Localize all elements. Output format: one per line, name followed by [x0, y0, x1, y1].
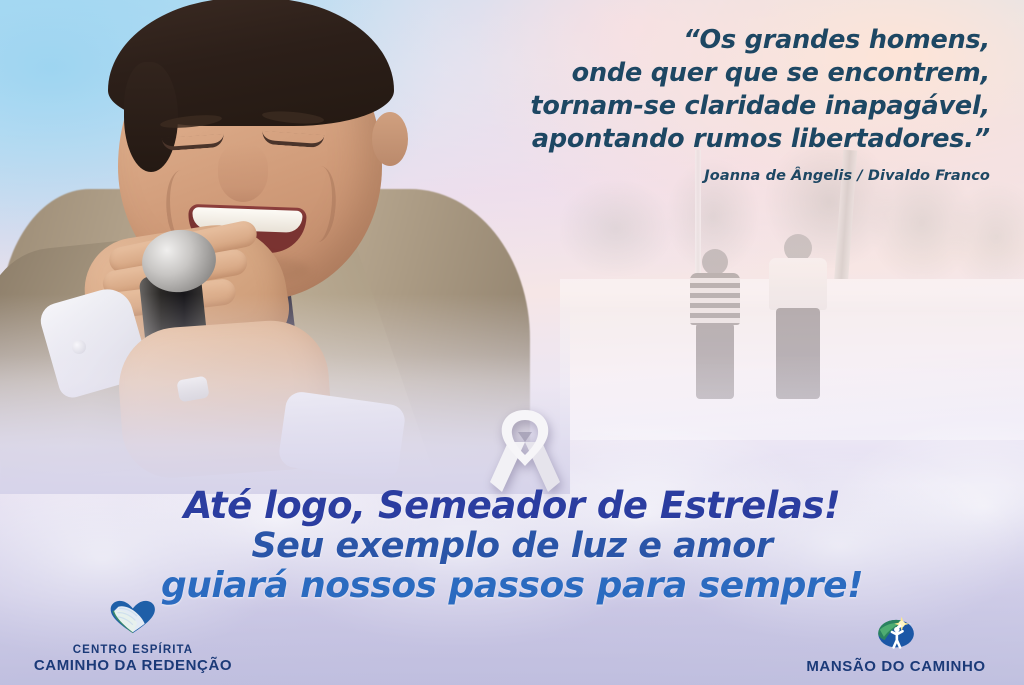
globe-figure-star-icon [875, 615, 917, 649]
quote-line-4: apontando rumos libertadores.” [430, 123, 990, 156]
heart-hands-icon [109, 600, 157, 634]
logo-left-line-1: CENTRO ESPÍRITA [8, 643, 258, 657]
scene-person-shirt [769, 258, 827, 310]
white-ribbon-icon [488, 408, 562, 492]
memorial-poster: “Os grandes homens, onde quer que se enc… [0, 0, 1024, 685]
scene-person-head [702, 249, 728, 275]
headline-line-2: Seu exemplo de luz e amor [0, 526, 1024, 566]
portrait-nose [218, 144, 268, 202]
headline-line-1: Até logo, Semeador de Estrelas! [0, 486, 1024, 526]
portrait-ear [372, 112, 408, 166]
logo-mansao-do-caminho[interactable]: MANSÃO DO CAMINHO [776, 615, 1016, 675]
quote-line-1: “Os grandes homens, [430, 24, 990, 57]
quote-author: Joanna de Ângelis / Divaldo Franco [430, 168, 990, 184]
portrait-fade-overlay [0, 294, 570, 494]
portrait-hair [108, 0, 394, 126]
logo-left-line-2: CAMINHO DA REDENÇÃO [8, 657, 258, 675]
quote-line-2: onde quer que se encontrem, [430, 57, 990, 90]
headline-block: Até logo, Semeador de Estrelas! Seu exem… [0, 486, 1024, 606]
quote-line-3: tornam-se claridade inapagável, [430, 90, 990, 123]
scene-person-striped-shirt [690, 273, 740, 325]
logo-right-line-1: MANSÃO DO CAMINHO [776, 658, 1016, 675]
logo-centro-espirita-caminho-da-redencao[interactable]: CENTRO ESPÍRITA CAMINHO DA REDENÇÃO [8, 600, 258, 675]
quote-block: “Os grandes homens, onde quer que se enc… [430, 24, 990, 184]
